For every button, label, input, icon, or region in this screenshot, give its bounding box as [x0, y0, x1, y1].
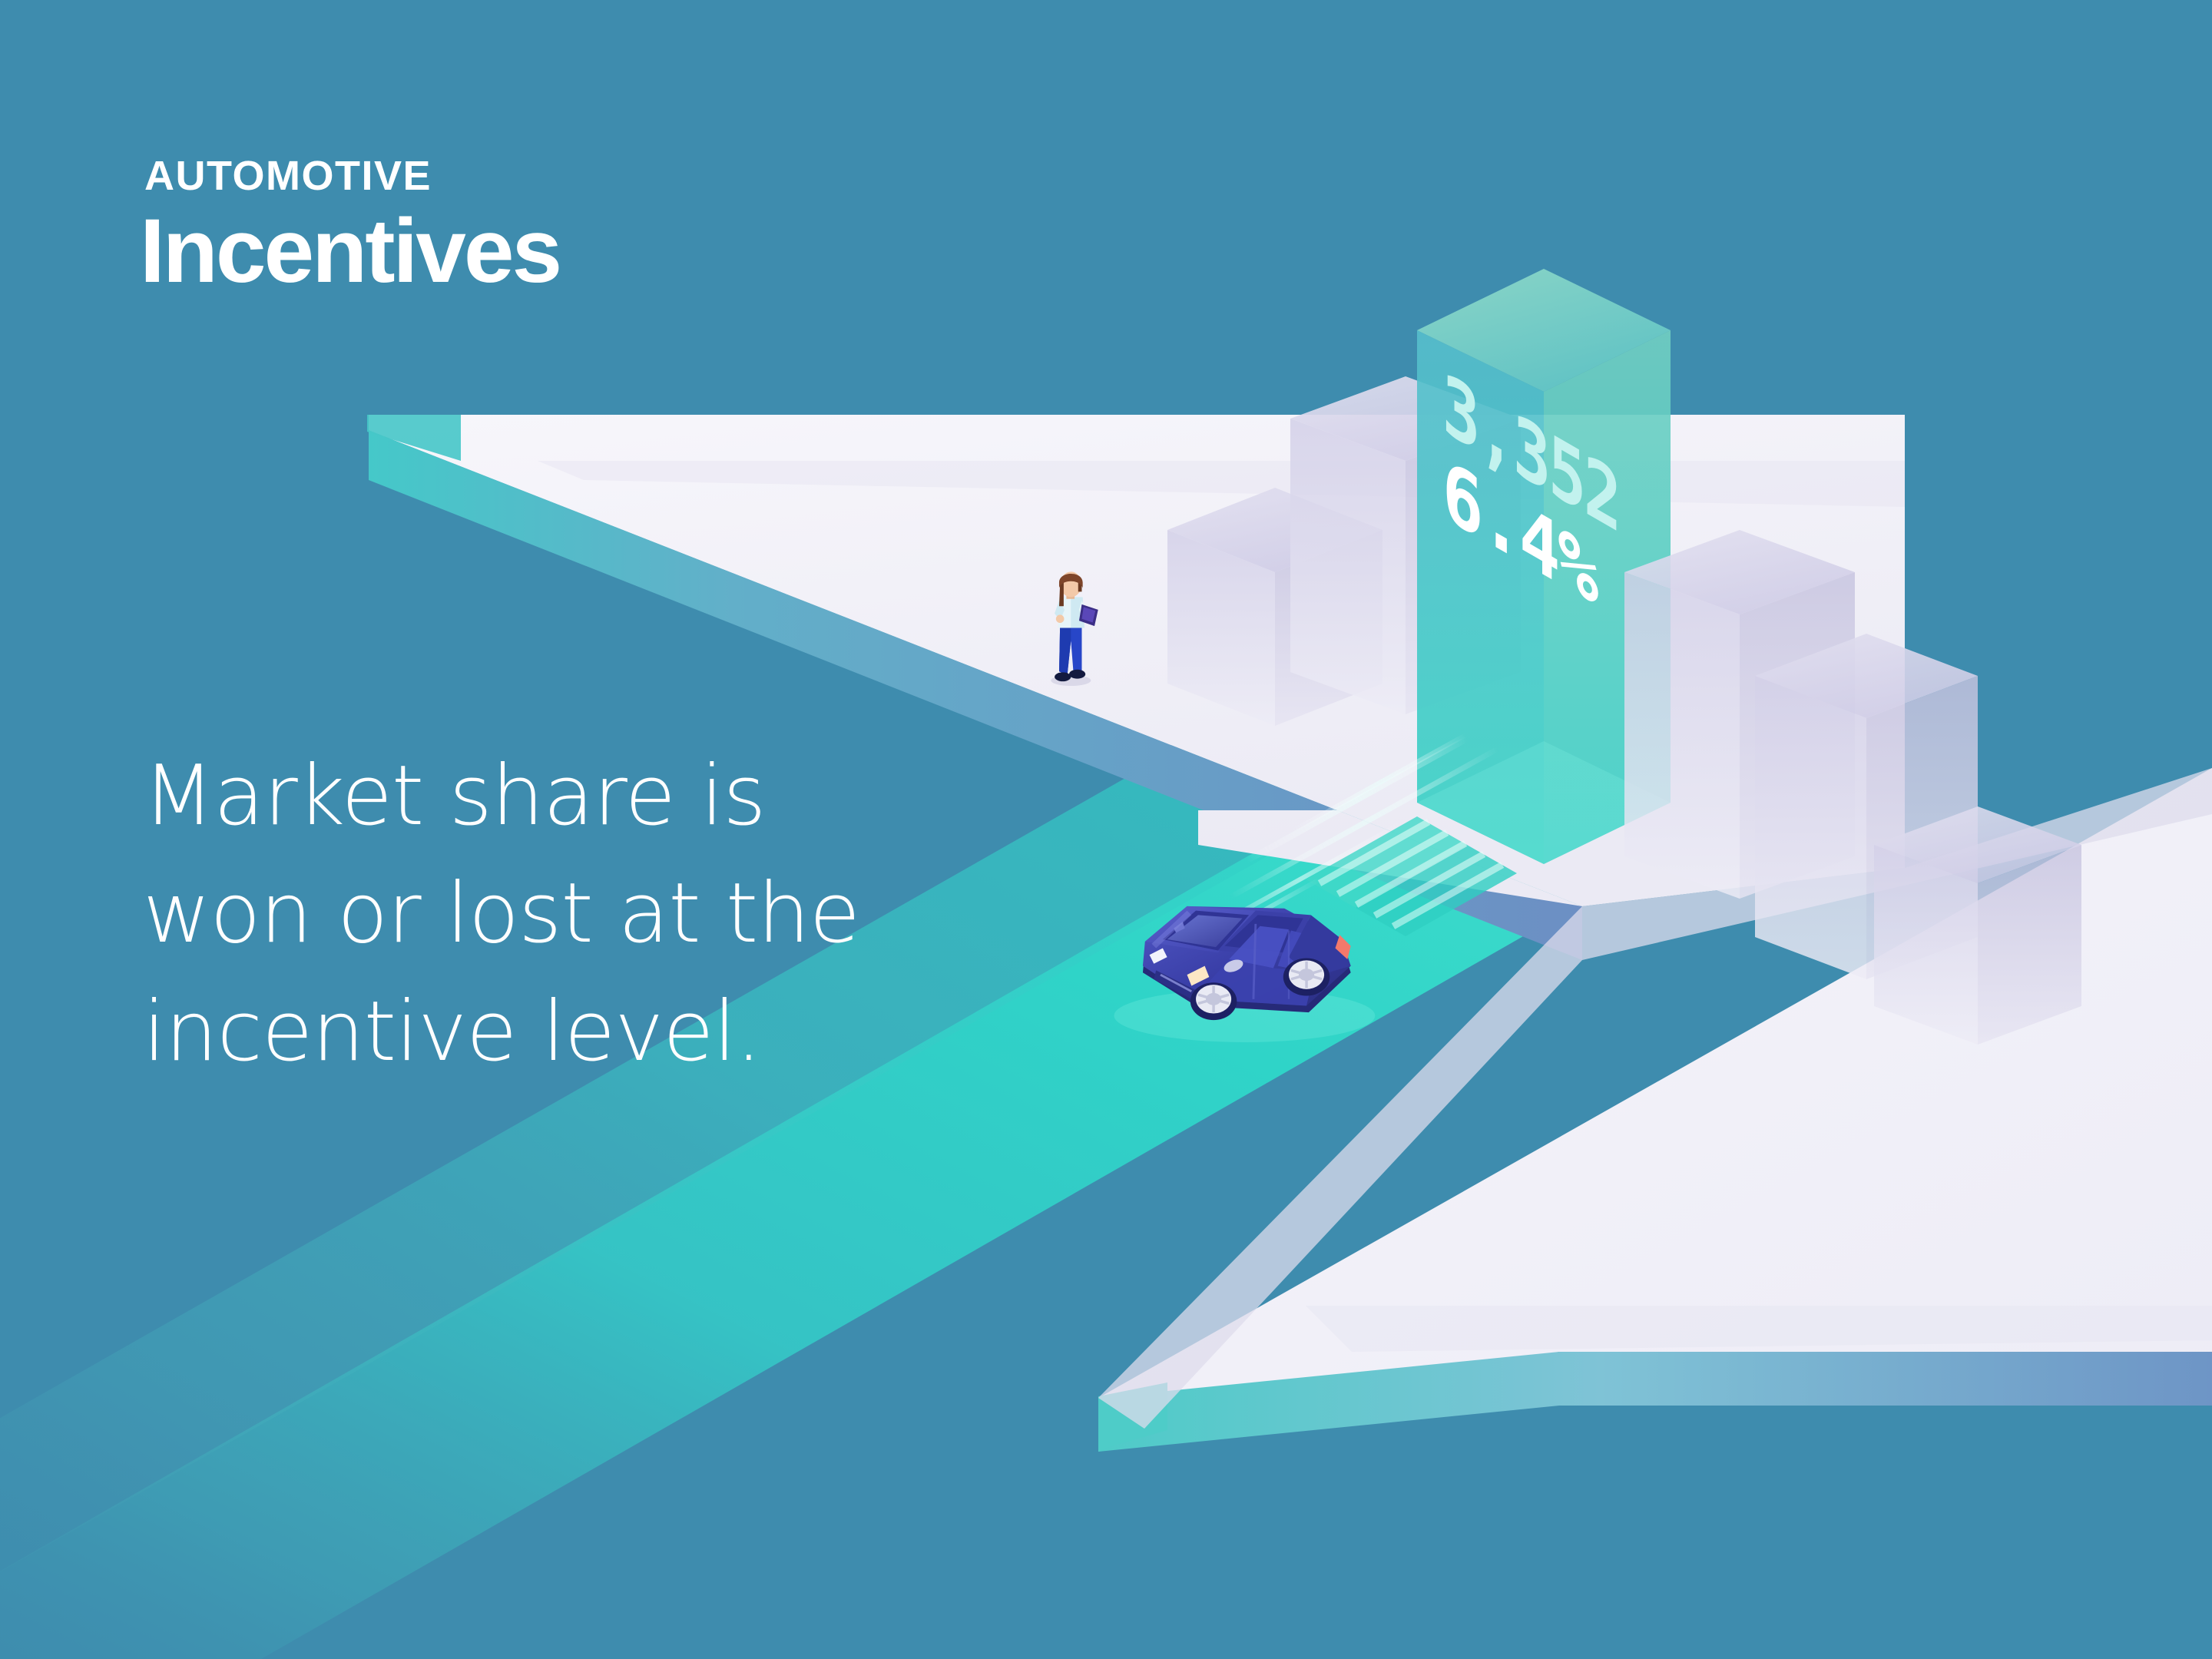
tagline-line-2: won or lost at the: [143, 855, 957, 972]
tagline-line-1: Market share is: [143, 737, 957, 855]
eyebrow-label: AUTOMOTIVE: [144, 155, 432, 197]
tagline-line-3: incentive level.: [143, 973, 957, 1091]
tagline: Market share is won or lost at the incen…: [143, 737, 957, 1091]
bar-7: [1874, 806, 2081, 1045]
wheel-rear: [1283, 959, 1330, 996]
page-title: Incentives: [140, 198, 560, 305]
illustration-canvas: 3,352 6.4% AUTOMOTIVE Incentives Market …: [0, 0, 2212, 1659]
wheel-front: [1190, 982, 1237, 1020]
